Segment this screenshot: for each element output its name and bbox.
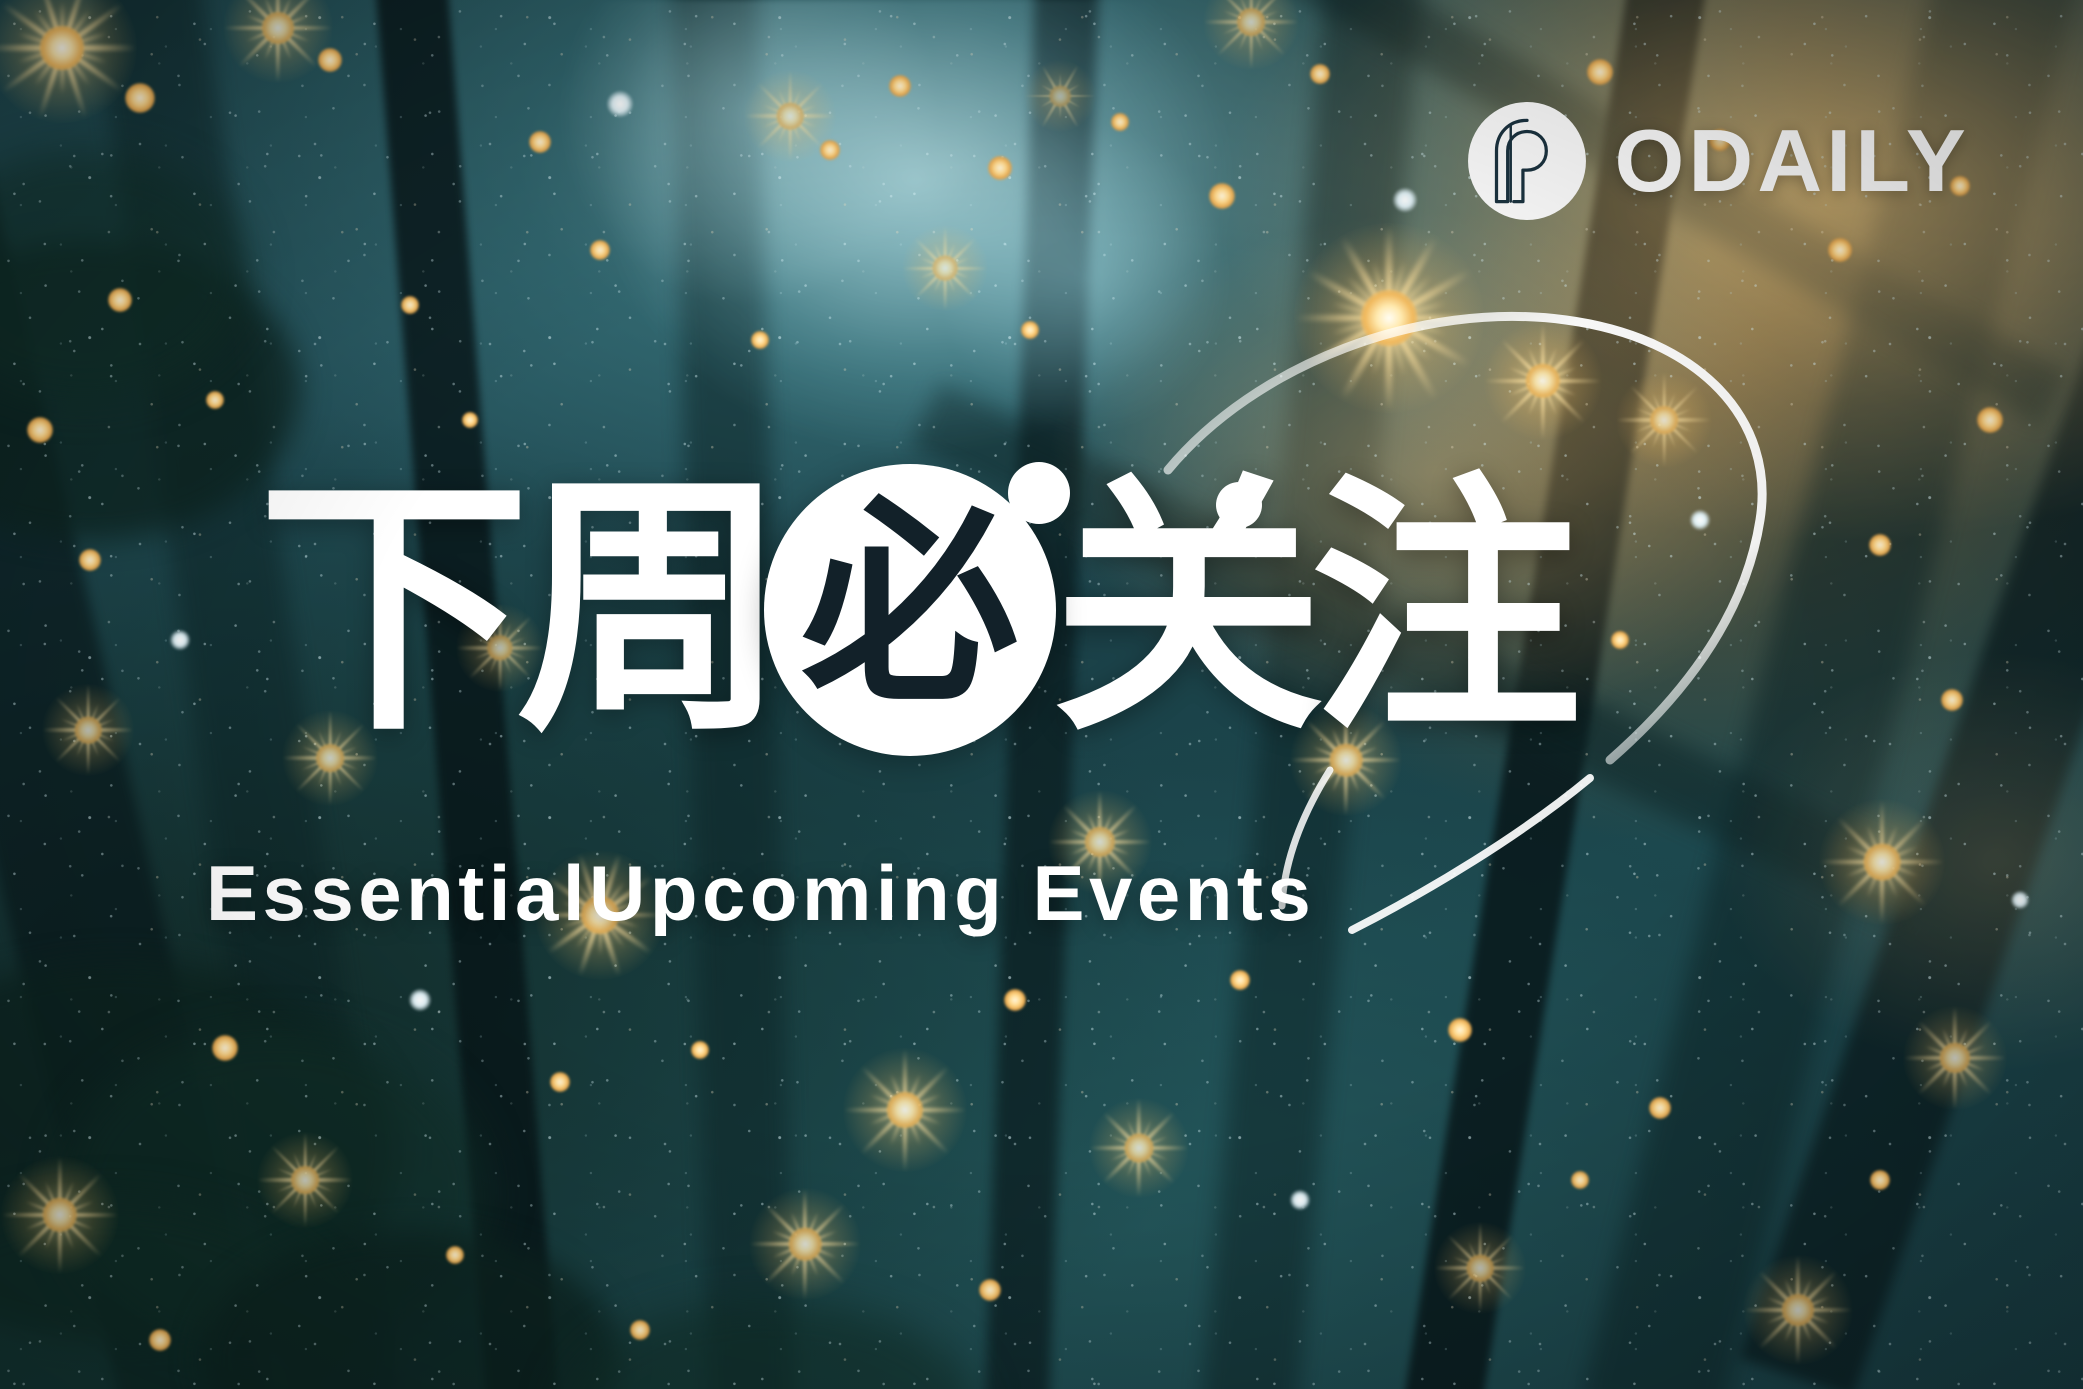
bokeh-light-icon: [79, 549, 101, 571]
bokeh-light-icon: [529, 131, 551, 153]
bokeh-light-icon: [2011, 891, 2029, 909]
bokeh-light-icon: [462, 412, 478, 428]
bokeh-light-icon: [206, 391, 224, 409]
bokeh-light-icon: [1870, 1170, 1890, 1190]
bokeh-light-icon: [212, 1035, 238, 1061]
bokeh-light-icon: [125, 83, 155, 113]
bokeh-light-icon: [979, 1279, 1001, 1301]
bokeh-light-icon: [1111, 113, 1129, 131]
bokeh-light-icon: [1977, 407, 2003, 433]
bokeh-light-icon: [149, 1329, 171, 1351]
bokeh-light-icon: [988, 156, 1012, 180]
bokeh-light-icon: [1310, 64, 1330, 84]
odaily-logo[interactable]: ODAILY: [1466, 100, 1966, 222]
bokeh-light-icon: [1393, 188, 1417, 212]
bokeh-light-icon: [1828, 238, 1852, 262]
bokeh-light-icon: [550, 1072, 570, 1092]
bokeh-light-icon: [691, 1041, 709, 1059]
bokeh-light-icon: [751, 331, 769, 349]
odaily-circle-p-icon: [1466, 100, 1588, 222]
bokeh-light-icon: [318, 48, 342, 72]
bokeh-light-icon: [607, 91, 633, 117]
bokeh-light-icon: [1941, 689, 1963, 711]
bokeh-light-icon: [1209, 183, 1235, 209]
bokeh-light-icon: [1649, 1097, 1671, 1119]
bokeh-light-icon: [1571, 1171, 1589, 1189]
bokeh-light-icon: [1004, 989, 1026, 1011]
bokeh-light-icon: [409, 989, 431, 1011]
bokeh-light-icon: [1611, 631, 1629, 649]
bokeh-light-icon: [27, 417, 53, 443]
bokeh-light-icon: [1869, 534, 1891, 556]
poster-canvas: ODAILY 下 周 必 关 注 EssentialUpcoming Event…: [0, 0, 2083, 1389]
bokeh-light-icon: [108, 288, 132, 312]
bokeh-light-icon: [1448, 1018, 1472, 1042]
bokeh-light-icon: [889, 75, 911, 97]
bokeh-light-icon: [630, 1320, 650, 1340]
bokeh-light-icon: [446, 1246, 464, 1264]
bokeh-light-icon: [1021, 321, 1039, 339]
bokeh-light-icon: [1290, 1190, 1310, 1210]
bokeh-light-icon: [170, 630, 190, 650]
bokeh-light-icon: [1230, 970, 1250, 990]
bokeh-light-icon: [401, 296, 419, 314]
bokeh-light-icon: [590, 240, 610, 260]
odaily-wordmark: ODAILY: [1615, 117, 1970, 205]
bokeh-light-icon: [820, 140, 840, 160]
bokeh-light-icon: [1587, 59, 1613, 85]
bokeh-light-icon: [1690, 510, 1710, 530]
